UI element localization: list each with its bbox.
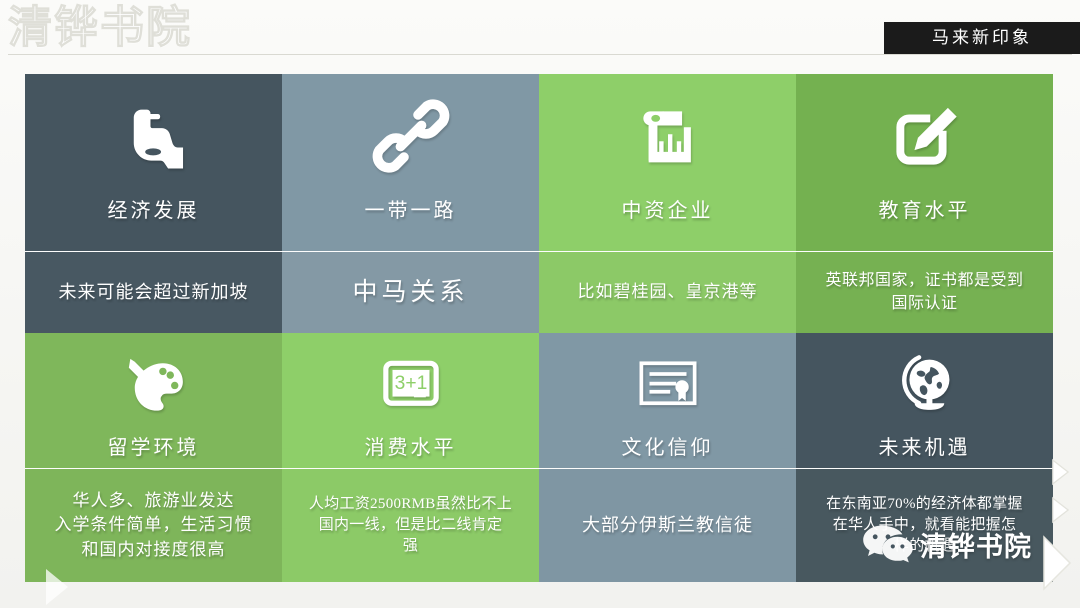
tile-consumption-level-top: 3+1 消费水平 xyxy=(282,333,539,468)
tile-belt-and-road-caption: 中马关系 xyxy=(282,252,539,333)
tile-future-opportunity-title: 未来机遇 xyxy=(879,431,971,460)
tile-future-opportunity-top: 未来机遇 xyxy=(796,333,1053,468)
certificate-seal-icon xyxy=(631,347,705,421)
tile-study-abroad-environment-title: 留学环境 xyxy=(108,431,200,460)
tile-belt-and-road[interactable]: 一带一路 中马关系 xyxy=(282,74,539,333)
tile-consumption-level-caption: 人均工资2500RMB虽然比不上 国内一线，但是比二线肯定 强 xyxy=(282,469,539,582)
caption-line: 中马关系 xyxy=(352,275,468,311)
caption-line: 和国内对接度很高 xyxy=(55,538,253,562)
tile-study-abroad-environment-top: 留学环境 xyxy=(25,333,282,468)
tile-economy-top: 经济发展 xyxy=(25,74,282,251)
edit-pencil-square-icon xyxy=(881,92,969,180)
tile-chinese-enterprises-top: 中资企业 xyxy=(539,74,796,251)
caption-line: 样的机遇 xyxy=(826,536,1023,557)
slide-header: 清铧书院 马来新印象 xyxy=(0,0,1080,74)
caption-line: 在东南亚70%的经济体都掌握 xyxy=(826,494,1023,515)
factory-building-icon xyxy=(624,92,712,180)
tile-future-opportunity-caption: 在东南亚70%的经济体都掌握 在华人手中，就看能把握怎 样的机遇 xyxy=(796,469,1053,582)
tile-chinese-enterprises-caption: 比如碧桂园、皇京港等 xyxy=(539,252,796,333)
caption-line: 比如碧桂园、皇京港等 xyxy=(578,280,758,304)
tile-education-level-top: 教育水平 xyxy=(796,74,1053,251)
tile-grid: 经济发展 未来可能会超过新加坡 一带一路 xyxy=(25,74,1053,582)
tile-belt-and-road-title: 一带一路 xyxy=(365,194,457,223)
chain-link-icon xyxy=(367,92,455,180)
tile-consumption-level[interactable]: 3+1 消费水平 人均工资2500RMB虽然比不上 国内一线，但是比二线肯定 强 xyxy=(282,333,539,582)
tile-education-level-title: 教育水平 xyxy=(879,194,971,223)
brand-watermark-text: 清铧书院 xyxy=(8,2,192,54)
tile-economy[interactable]: 经济发展 未来可能会超过新加坡 xyxy=(25,74,282,333)
caption-line: 在华人手中，就看能把握怎 xyxy=(826,515,1023,536)
muscle-arm-icon xyxy=(110,92,198,180)
tile-culture-faith-top: 文化信仰 xyxy=(539,333,796,468)
caption-line: 国际认证 xyxy=(825,293,1023,316)
slide-canvas: 清铧书院 马来新印象 经济发展 未来可能会超过新加坡 xyxy=(0,0,1080,608)
header-divider-rule xyxy=(8,54,1072,55)
tile-culture-faith-title: 文化信仰 xyxy=(622,431,714,460)
tile-education-level[interactable]: 教育水平 英联邦国家，证书都是受到 国际认证 xyxy=(796,74,1053,333)
tile-culture-faith-caption: 大部分伊斯兰教信徒 xyxy=(539,469,796,582)
caption-line: 人均工资2500RMB虽然比不上 xyxy=(309,494,512,515)
caption-line: 入学条件简单，生活习惯 xyxy=(55,513,253,537)
blackboard-3plus1-icon: 3+1 xyxy=(374,347,448,421)
tile-future-opportunity[interactable]: 未来机遇 在东南亚70%的经济体都掌握 在华人手中，就看能把握怎 样的机遇 xyxy=(796,333,1053,582)
tile-belt-and-road-top: 一带一路 xyxy=(282,74,539,251)
tile-education-level-caption: 英联邦国家，证书都是受到 国际认证 xyxy=(796,252,1053,333)
slide-title-banner: 马来新印象 xyxy=(884,22,1080,54)
paint-palette-icon xyxy=(117,347,191,421)
caption-line: 国内一线，但是比二线肯定 xyxy=(309,515,512,536)
tile-chinese-enterprises-title: 中资企业 xyxy=(622,194,714,223)
tile-culture-faith[interactable]: 文化信仰 大部分伊斯兰教信徒 xyxy=(539,333,796,582)
caption-line: 未来可能会超过新加坡 xyxy=(59,280,249,306)
globe-stand-icon xyxy=(888,347,962,421)
tile-economy-caption: 未来可能会超过新加坡 xyxy=(25,252,282,333)
caption-line: 强 xyxy=(309,536,512,557)
svg-text:3+1: 3+1 xyxy=(394,373,427,394)
caption-line: 大部分伊斯兰教信徒 xyxy=(582,513,753,539)
caption-line: 英联邦国家，证书都是受到 xyxy=(825,270,1023,293)
tile-study-abroad-environment-caption: 华人多、旅游业发达 入学条件简单，生活习惯 和国内对接度很高 xyxy=(25,469,282,582)
caption-line: 华人多、旅游业发达 xyxy=(55,489,253,513)
tile-economy-title: 经济发展 xyxy=(108,194,200,223)
tile-study-abroad-environment[interactable]: 留学环境 华人多、旅游业发达 入学条件简单，生活习惯 和国内对接度很高 xyxy=(25,333,282,582)
tile-chinese-enterprises[interactable]: 中资企业 比如碧桂园、皇京港等 xyxy=(539,74,796,333)
tile-consumption-level-title: 消费水平 xyxy=(365,431,457,460)
